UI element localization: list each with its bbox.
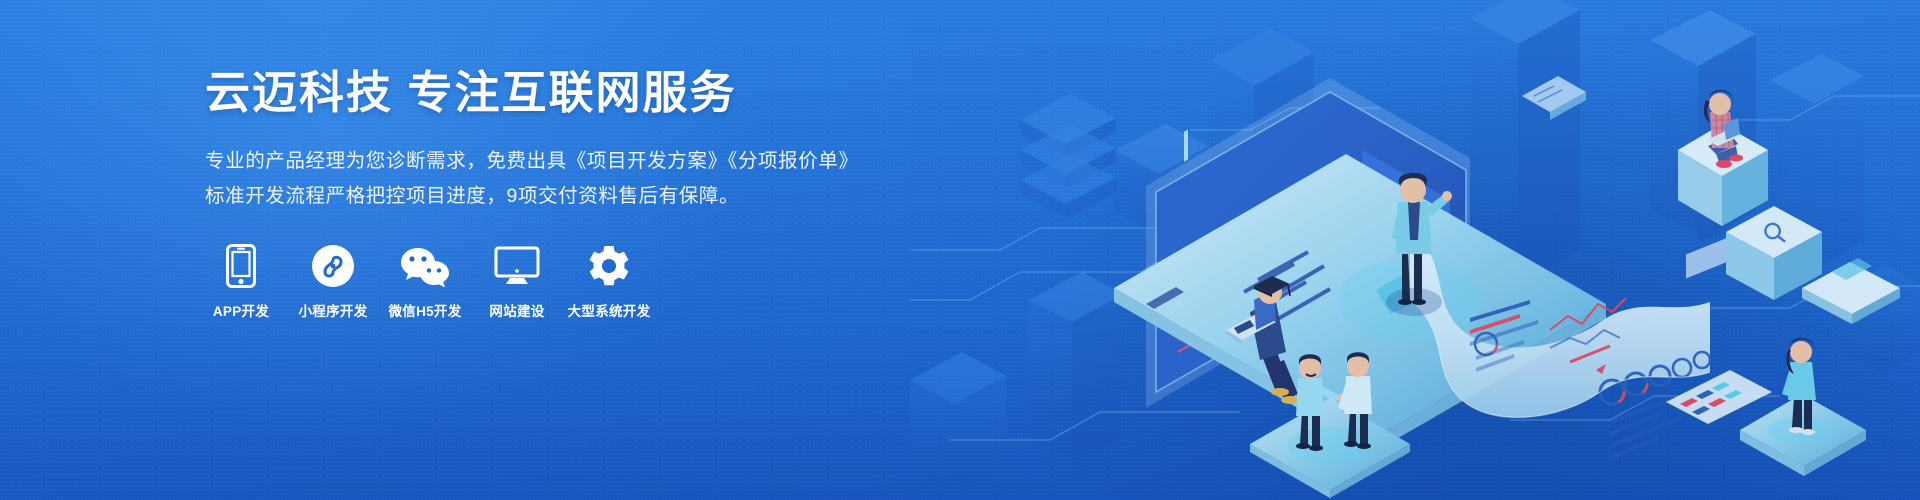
service-label: 网站建设 [489, 300, 544, 320]
service-item-app[interactable]: APP开发 [205, 243, 277, 320]
service-item-miniprogram[interactable]: 小程序开发 [297, 243, 369, 320]
banner-content: 云迈科技 专注互联网服务 专业的产品经理为您诊断需求，免费出具《项目开发方案》《… [205, 66, 905, 320]
service-label: 微信H5开发 [388, 300, 461, 320]
gear-icon [587, 243, 631, 289]
subtitle-line-1: 专业的产品经理为您诊断需求，免费出具《项目开发方案》《分项报价单》 [205, 144, 905, 179]
page-title: 云迈科技 专注互联网服务 [205, 66, 905, 119]
service-list: APP开发 小程序开发 [205, 243, 905, 320]
mini-program-icon [311, 243, 355, 289]
service-item-large-system[interactable]: 大型系统开发 [573, 243, 645, 320]
mobile-phone-icon [226, 243, 256, 289]
service-item-wechat-h5[interactable]: 微信H5开发 [389, 243, 461, 320]
banner-subtitle: 专业的产品经理为您诊断需求，免费出具《项目开发方案》《分项报价单》 标准开发流程… [205, 144, 905, 213]
hero-banner: 云迈科技 专注互联网服务 专业的产品经理为您诊断需求，免费出具《项目开发方案》《… [0, 0, 1920, 500]
subtitle-line-2: 标准开发流程严格把控项目进度，9项交付资料售后有保障。 [205, 179, 905, 214]
monitor-icon [494, 243, 540, 289]
isometric-illustration [910, 0, 1920, 500]
service-label: 大型系统开发 [568, 300, 651, 320]
service-label: 小程序开发 [299, 300, 368, 320]
wechat-icon [400, 243, 450, 289]
service-item-website[interactable]: 网站建设 [481, 243, 553, 320]
service-label: APP开发 [213, 300, 269, 320]
